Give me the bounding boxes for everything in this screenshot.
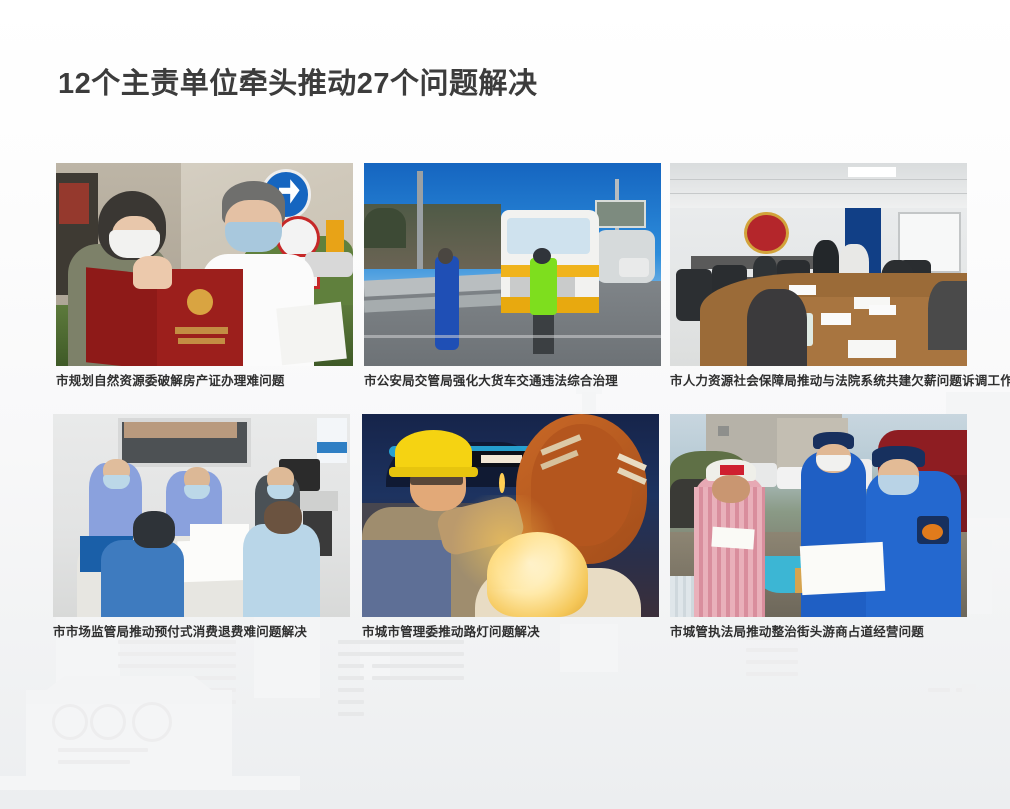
- watermark-line: [746, 660, 798, 664]
- watermark-line: [372, 664, 464, 668]
- watermark-line: [338, 652, 430, 656]
- watermark-block: [962, 684, 976, 696]
- gallery-card[interactable]: 市市场监管局推动预付式消费退费难问题解决: [53, 414, 350, 640]
- watermark-line: [118, 652, 236, 656]
- watermark-circle-3: [132, 702, 172, 742]
- watermark-building-roof: [26, 690, 232, 704]
- cap-love-text: [720, 465, 744, 475]
- page-title-container: 12个主责单位牵头推动27个问题解决: [58, 63, 538, 105]
- photo-caption: 市城管执法局推动整治街头游商占道经营问题: [670, 625, 967, 640]
- watermark-circle-1: [52, 704, 88, 740]
- photo-market-supervision-meeting[interactable]: [53, 414, 350, 617]
- page-title: 12个主责单位牵头推动27个问题解决: [58, 63, 538, 105]
- watermark-line: [746, 672, 798, 676]
- watermark-line: [118, 640, 236, 644]
- watermark-building-body: [26, 704, 232, 776]
- watermark-line: [338, 712, 364, 716]
- watermark-line: [928, 688, 950, 692]
- photo-caption: 市规划自然资源委破解房产证办理难问题: [56, 374, 353, 389]
- photo-caption: 市公安局交管局强化大货车交通违法综合治理: [364, 374, 661, 389]
- watermark-line: [372, 652, 464, 656]
- watermark-line: [372, 676, 464, 680]
- watermark-line: [372, 640, 464, 644]
- watermark-line: [338, 700, 364, 704]
- watermark-plinth: [0, 776, 300, 790]
- gallery-card[interactable]: 市人力资源社会保障局推动与法院系统共建欠薪问题诉调工作站: [670, 163, 967, 389]
- photo-streetlight-night-maintenance[interactable]: [362, 414, 659, 617]
- watermark-line: [118, 700, 236, 704]
- photo-caption: 市人力资源社会保障局推动与法院系统共建欠薪问题诉调工作站: [670, 374, 967, 389]
- watermark-line: [338, 688, 364, 692]
- photo-caption: 市市场监管局推动预付式消费退费难问题解决: [53, 625, 350, 640]
- gallery-card[interactable]: 市城管执法局推动整治街头游商占道经营问题: [670, 414, 967, 640]
- watermark-line: [58, 748, 148, 752]
- watermark-circle-2: [90, 704, 126, 740]
- watermark-line: [58, 760, 130, 764]
- gallery-card[interactable]: 市公安局交管局强化大货车交通违法综合治理: [364, 163, 661, 389]
- photo-couple-with-property-certificate[interactable]: [56, 163, 353, 366]
- gallery-card[interactable]: 市规划自然资源委破解房产证办理难问题: [56, 163, 353, 389]
- watermark-line: [118, 676, 236, 680]
- photo-street-vendor-enforcement[interactable]: [670, 414, 967, 617]
- gallery-card[interactable]: 市城市管理委推动路灯问题解决: [362, 414, 659, 640]
- watermark-line: [746, 648, 798, 652]
- watermark-line: [338, 676, 364, 680]
- watermark-line: [338, 664, 364, 668]
- photo-truck-roadside-inspection[interactable]: [364, 163, 661, 366]
- watermark-dome-stem: [582, 392, 596, 414]
- watermark-line: [338, 640, 430, 644]
- watermark-line: [956, 688, 970, 692]
- watermark-line: [118, 664, 236, 668]
- photo-court-mediation-workstation[interactable]: [670, 163, 967, 366]
- watermark-line: [118, 688, 236, 692]
- photo-caption: 市城市管理委推动路灯问题解决: [362, 625, 659, 640]
- slide-canvas: 12个主责单位牵头推动27个问题解决: [0, 0, 1010, 809]
- watermark-building-roof-2: [44, 676, 214, 692]
